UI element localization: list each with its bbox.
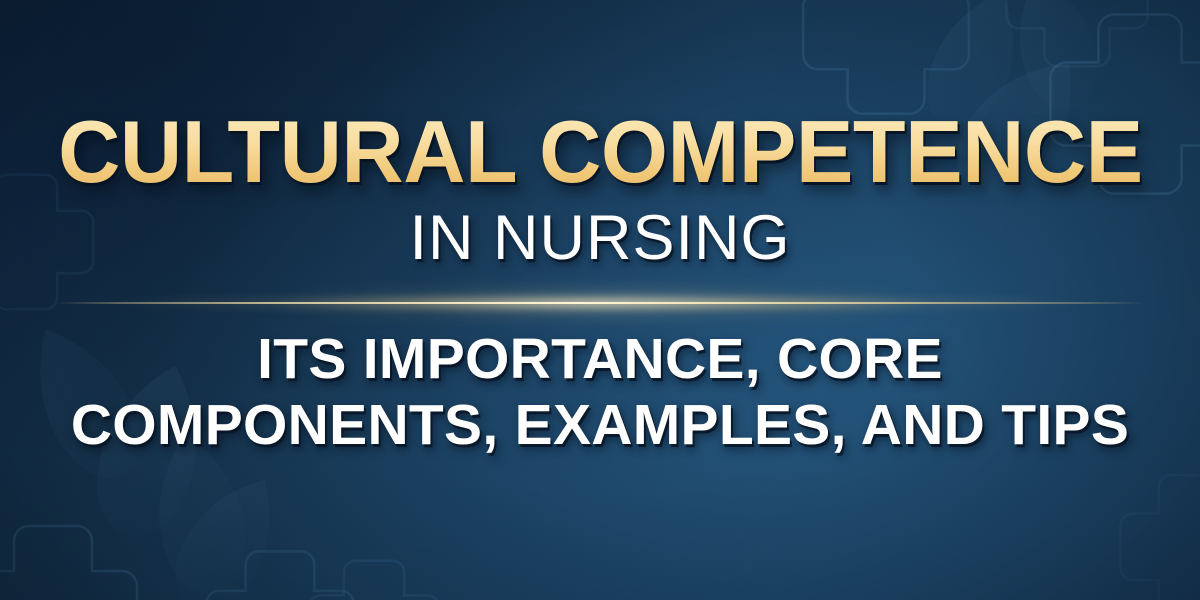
- headline-line-1: ITS IMPORTANCE, CORE: [71, 330, 1129, 390]
- poster-canvas: CULTURAL COMPETENCE IN NURSING ITS IMPOR…: [0, 0, 1200, 600]
- page-title: CULTURAL COMPETENCE: [58, 112, 1143, 193]
- page-headline: ITS IMPORTANCE, CORE COMPONENTS, EXAMPLE…: [71, 330, 1129, 456]
- page-subtitle: IN NURSING: [409, 207, 790, 270]
- poster-content: CULTURAL COMPETENCE IN NURSING ITS IMPOR…: [0, 0, 1200, 600]
- gold-divider: [55, 292, 1145, 314]
- divider-line: [55, 302, 1145, 304]
- headline-line-2: COMPONENTS, EXAMPLES, AND TIPS: [71, 396, 1129, 456]
